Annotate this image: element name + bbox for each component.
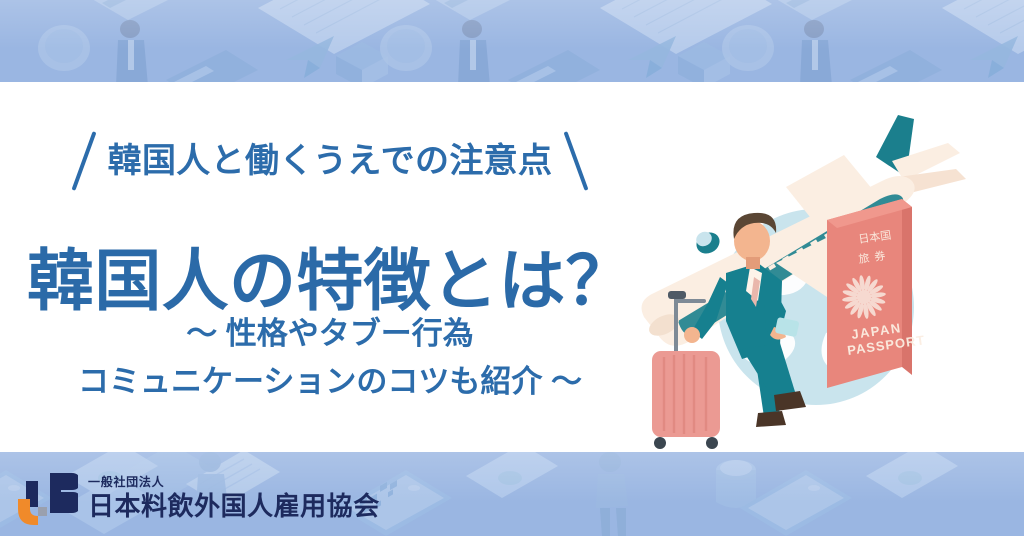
eyebrow-row: 韓国人と働くうえでの注意点 — [0, 130, 660, 192]
logo-wordmark: 一般社団法人 日本料飲外国人雇用協会 — [88, 476, 380, 519]
eyebrow-label: 韓国人と働くうえでの注意点 — [108, 144, 553, 178]
subtitle-block: 〜 性格やタブー行為 コミュニケーションのコツも紹介 〜 — [0, 310, 660, 406]
slash-left-decoration-icon — [71, 131, 96, 191]
illustration-svg: 日本国 旅券 — [630, 95, 1024, 455]
top-band-pattern-icon — [0, 0, 1024, 82]
japan-passport-icon: 日本国 旅券 — [826, 197, 926, 393]
subtitle-line-2: コミュニケーションのコツも紹介 〜 — [0, 358, 660, 406]
headline-text-column: 韓国人と働くうえでの注意点 韓国人の特徴とは？ 〜 性格やタブー行為 コミュニケ… — [0, 82, 660, 452]
jb-monogram-logo-icon — [16, 469, 78, 525]
subtitle-line-1: 〜 性格やタブー行為 — [0, 310, 660, 358]
organization-logo-lockup: 一般社団法人 日本料飲外国人雇用協会 — [16, 466, 380, 528]
page-title: 韓国人の特徴とは？ — [0, 247, 660, 317]
travel-passport-illustration: 日本国 旅券 — [630, 95, 1024, 455]
banner-root: 韓国人と働くうえでの注意点 韓国人の特徴とは？ 〜 性格やタブー行為 コミュニケ… — [0, 0, 1024, 536]
top-pattern-band — [0, 0, 1024, 82]
organization-name-label: 日本料飲外国人雇用協会 — [88, 493, 380, 519]
organization-kind-label: 一般社団法人 — [88, 476, 380, 488]
slash-right-decoration-icon — [564, 131, 589, 191]
